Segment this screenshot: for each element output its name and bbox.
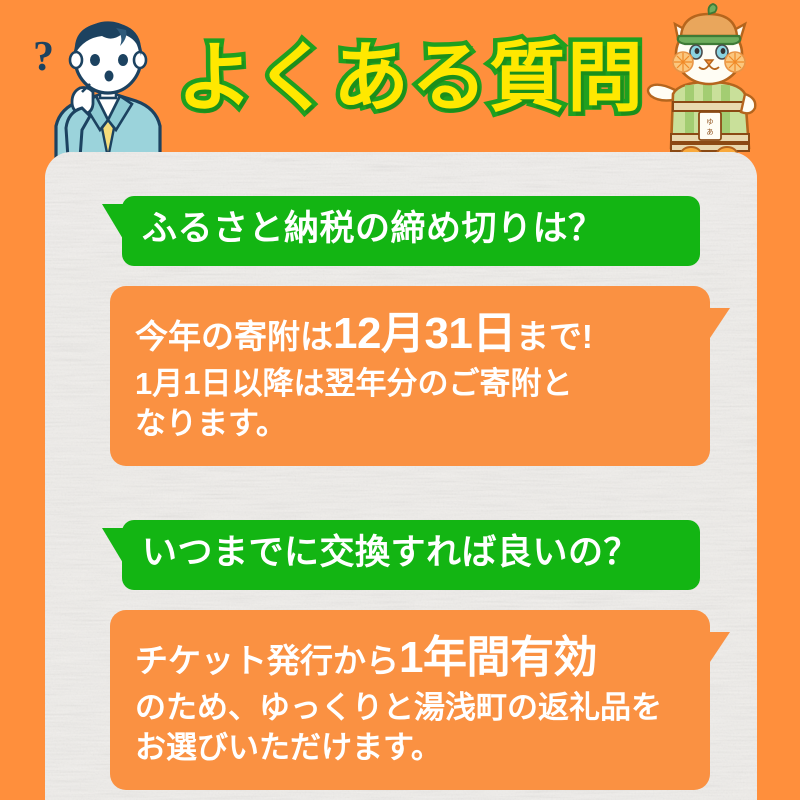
faq-item: いつまでに交換すれば良いの？ チケット発行から1年間有効 のため、ゆっくりと湯浅… <box>45 520 757 790</box>
faq-question-text: いつまでに交換すれば良いの？ <box>142 533 639 573</box>
page-title-text: よくある質問 <box>177 41 645 117</box>
faq-answer-headline: 今年の寄附は12月31日まで! <box>135 306 692 362</box>
faq-answer-lead-pre: チケット発行から <box>135 642 399 679</box>
header-band: ? <box>0 0 800 152</box>
faq-answer-lead-post: まで! <box>516 318 593 355</box>
speech-bubble-tail <box>102 528 126 568</box>
faq-answer-body-line: 1月1日以降は翌年分のご寄附と <box>135 364 692 404</box>
faq-answer-bubble: 今年の寄附は12月31日まで! 1月1日以降は翌年分のご寄附と なります。 <box>110 286 710 466</box>
faq-item: ふるさと納税の締め切りは？ 今年の寄附は12月31日まで! 1月1日以降は翌年分… <box>45 196 757 466</box>
faq-answer-bubble: チケット発行から1年間有効 のため、ゆっくりと湯浅町の返礼品を お選びいただけま… <box>110 610 710 790</box>
faq-answer-lead-pre: 今年の寄附は <box>135 318 333 355</box>
svg-text:あ: あ <box>707 128 714 136</box>
faq-answer-emphasis: 1年間有効 <box>399 633 597 682</box>
faq-answer-emphasis: 12月31日 <box>333 309 516 358</box>
mascot-icon: ゆ あ <box>645 2 775 162</box>
faq-answer-body-line: なります。 <box>135 404 692 444</box>
speech-bubble-tail <box>706 632 730 668</box>
content-panel: ふるさと納税の締め切りは？ 今年の寄附は12月31日まで! 1月1日以降は翌年分… <box>45 152 757 800</box>
faq-question-text: ふるさと納税の締め切りは？ <box>142 209 604 249</box>
faq-question-bubble: いつまでに交換すれば良いの？ <box>122 520 700 590</box>
faq-answer-body-line: のため、ゆっくりと湯浅町の返礼品を <box>135 688 692 728</box>
svg-text:ゆ: ゆ <box>707 118 714 126</box>
speech-bubble-tail <box>102 204 126 244</box>
faq-answer-body-line: お選びいただけます。 <box>135 728 692 768</box>
page-title: よくある質問 <box>186 24 636 134</box>
speech-bubble-tail <box>706 308 730 344</box>
confused-businessman-icon <box>38 8 178 158</box>
faq-question-bubble: ふるさと納税の締め切りは？ <box>122 196 700 266</box>
faq-answer-headline: チケット発行から1年間有効 <box>135 630 692 686</box>
